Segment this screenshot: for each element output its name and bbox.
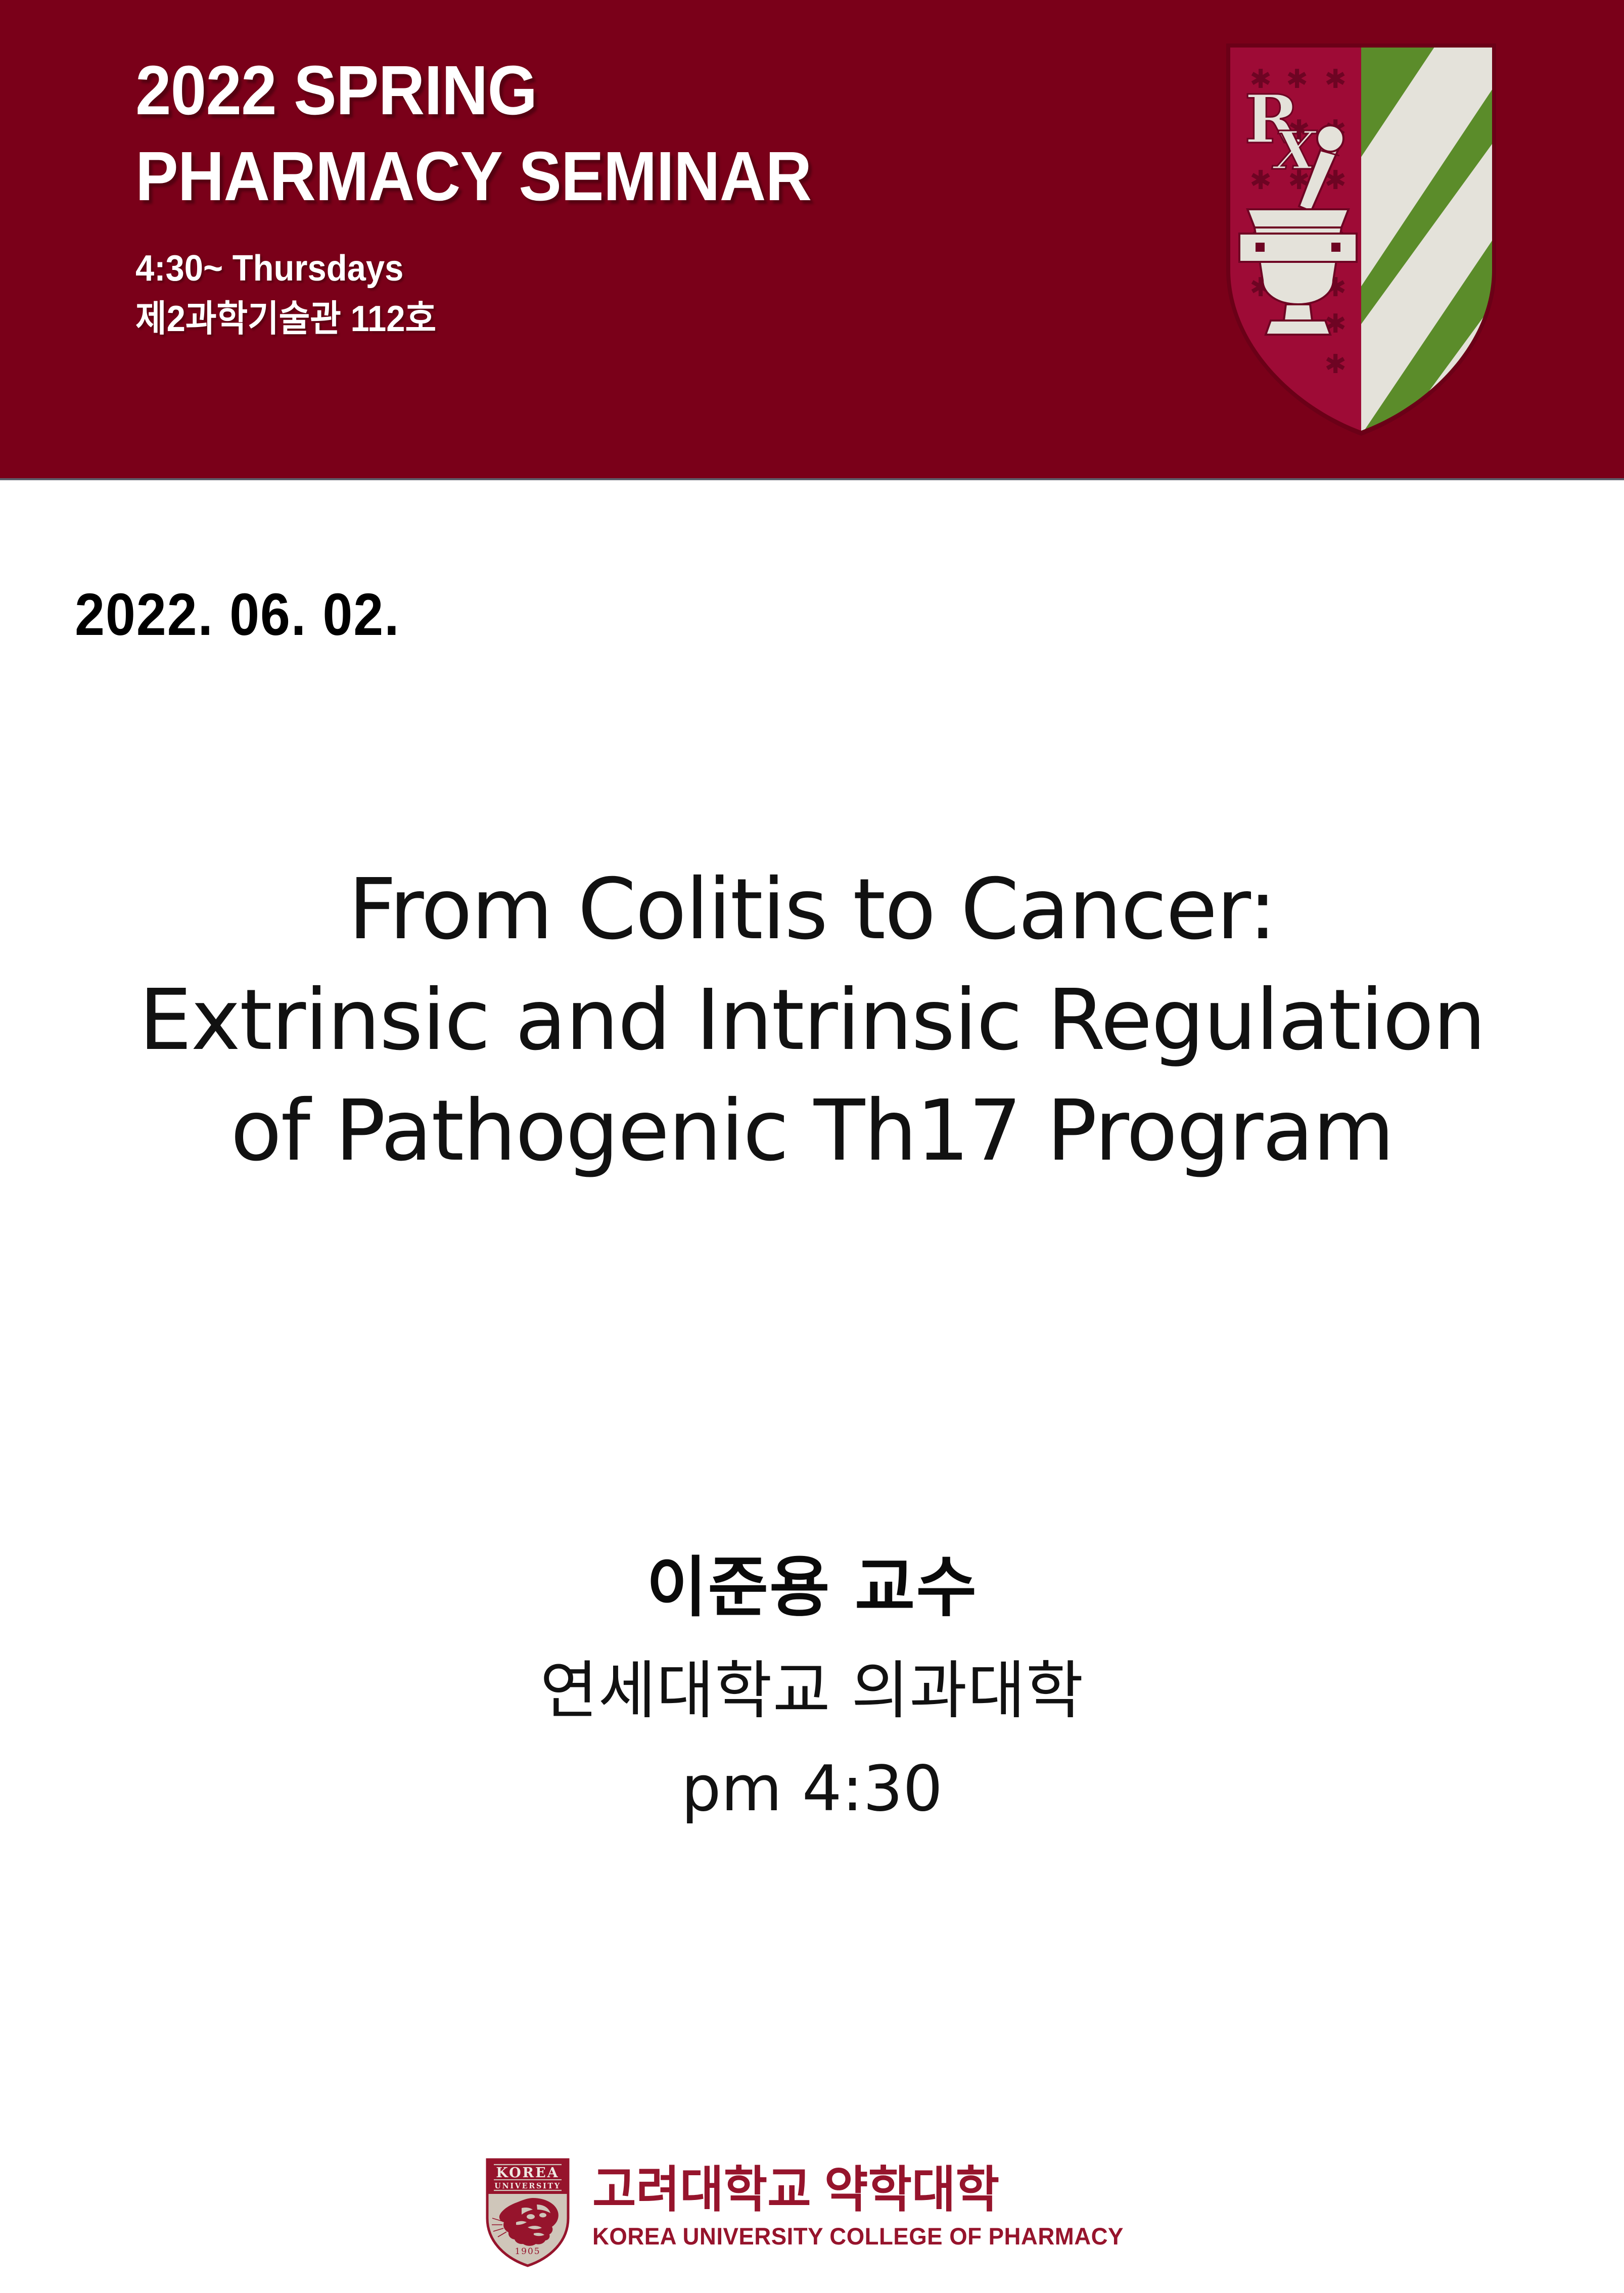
seminar-title-line-2: Extrinsic and Intrinsic Regulation [0,965,1624,1076]
svg-text:✱: ✱ [1249,165,1272,196]
header-subtitle-location: 제2과학기술관 112호 [135,294,1076,344]
header-title-line-1: 2022 SPRING [135,48,1065,134]
speaker-time: pm 4:30 [0,1758,1624,1820]
speaker-name: 이준용 교수 [0,1554,1624,1620]
footer-logo: KOREA UNIVERSITY 1905 [0,2158,1624,2268]
header-title-line-2: PHARMACY SEMINAR [135,134,1065,220]
crest-bottom-line: UNIVERSITY [494,2182,561,2190]
seminar-title: From Colitis to Cancer: Extrinsic and In… [0,854,1624,1186]
ku-wordmark-english: KOREA UNIVERSITY COLLEGE OF PHARMACY [592,2224,1124,2248]
crest-top-line: KOREA [496,2165,559,2181]
speaker-affiliation: 연세대학교 의과대학 [0,1660,1624,1722]
korea-university-crest-icon: KOREA UNIVERSITY 1905 [484,2158,571,2268]
ku-wordmark: 고려대학교 약학대학 KOREA UNIVERSITY COLLEGE OF P… [592,2158,1140,2248]
header-subtitle-block: 4:30~ Thursdays 제2과학기술관 112호 [135,244,1146,344]
speaker-block: 이준용 교수 연세대학교 의과대학 pm 4:30 [0,1554,1624,1820]
svg-text:✱: ✱ [1324,349,1347,380]
svg-text:✱: ✱ [1324,64,1347,95]
crest-year: 1905 [515,2246,540,2257]
header-text-block: 2022 SPRING PHARMACY SEMINAR 4:30~ Thurs… [135,48,1146,344]
pharmacy-shield-emblem: ✱ ✱ ✱ ✱ ✱ ✱ ✱ ✱ ✱ ✱ ✱ ✱ ✱ ✱ ✱ [1222,39,1500,439]
header-band: 2022 SPRING PHARMACY SEMINAR 4:30~ Thurs… [0,0,1624,480]
svg-text:X: X [1272,119,1318,181]
ku-wordmark-korean: 고려대학교 약학대학 [592,2165,1118,2214]
header-subtitle-time: 4:30~ Thursdays [135,244,1076,294]
seminar-title-line-3: of Pathogenic Th17 Program [0,1076,1624,1186]
seminar-date: 2022. 06. 02. [75,580,400,649]
seminar-title-line-1: From Colitis to Cancer: [0,854,1624,965]
